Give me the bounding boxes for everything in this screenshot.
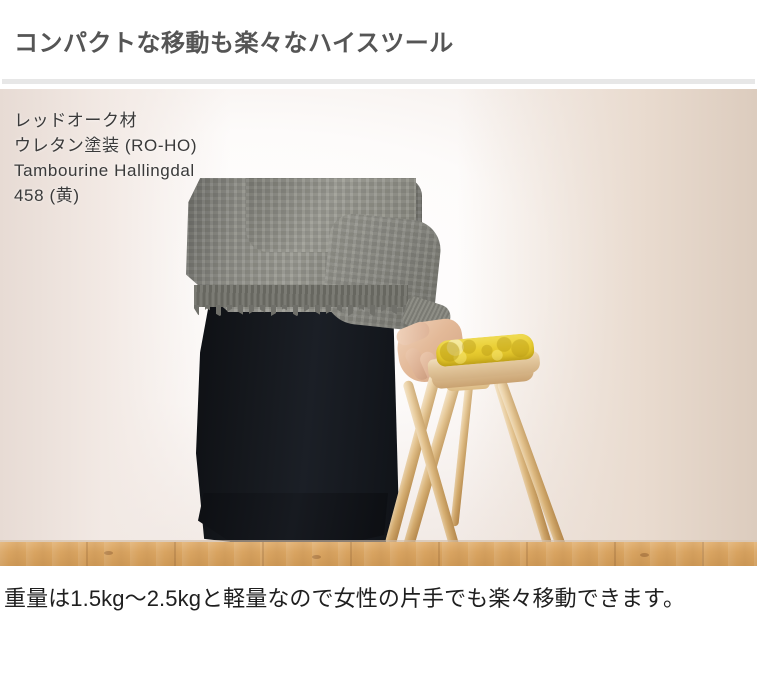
heading-divider (2, 79, 755, 84)
floor-knot (640, 553, 649, 557)
product-description-note: 重量は1.5kg〜2.5kgと軽量なので女性の片手でも楽々移動できます。 (4, 580, 754, 618)
product-detail-section: コンパクトな移動も楽々なハイスツール (0, 0, 757, 674)
floor-knot (312, 555, 321, 559)
photo-floor (0, 542, 757, 566)
stool-leg-right-outer (496, 379, 567, 552)
photo-caption-overlay: レッドオーク材 ウレタン塗装 (RO-HO) Tambourine Hallin… (14, 108, 197, 208)
stool-leg-back-right (492, 376, 552, 547)
product-photo: レッドオーク材 ウレタン塗装 (RO-HO) Tambourine Hallin… (0, 89, 757, 566)
section-heading: コンパクトな移動も楽々なハイスツール (14, 27, 734, 61)
floor-knot (104, 551, 113, 555)
